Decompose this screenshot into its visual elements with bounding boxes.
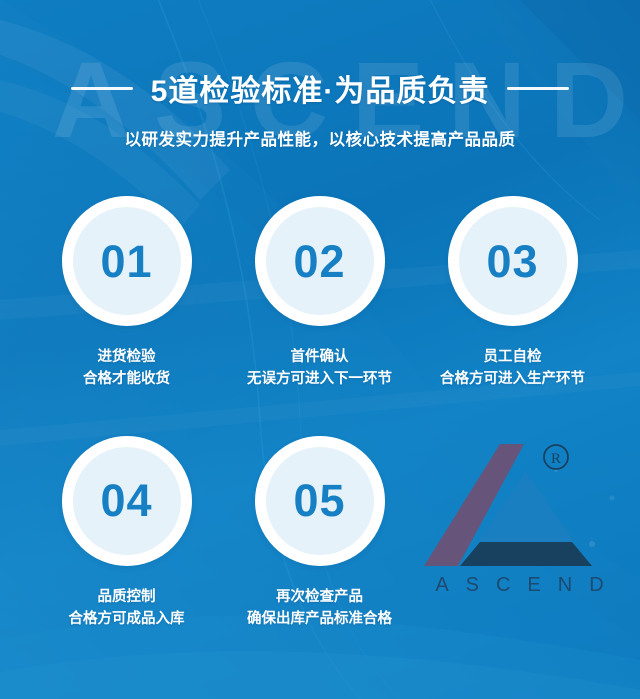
step-number-03: 03 (486, 239, 538, 284)
page-title: 5道检验标准·为品质负责 (151, 66, 490, 110)
title-rule-left-icon (71, 87, 133, 90)
step-item-01: 01 进货检验 合格才能收货 (30, 196, 223, 391)
step-caption-line1: 员工自检 (440, 346, 585, 368)
step-item-05: 05 再次检查产品 确保出库产品标准合格 (223, 436, 416, 631)
step-number-04: 04 (100, 478, 152, 523)
step-circle-03: 03 (448, 196, 578, 326)
step-caption-05: 再次检查产品 确保出库产品标准合格 (247, 586, 392, 631)
step-caption-04: 品质控制 合格方可成品入库 (69, 586, 185, 631)
step-caption-line1: 再次检查产品 (247, 586, 392, 608)
step-caption-line2: 合格方可进入生产环节 (440, 368, 585, 390)
step-caption-line1: 进货检验 (83, 346, 170, 368)
step-circle-02: 02 (255, 196, 385, 326)
step-number-05: 05 (293, 478, 345, 523)
step-caption-line1: 首件确认 (247, 346, 392, 368)
step-caption-02: 首件确认 无误方可进入下一环节 (247, 346, 392, 391)
step-number-02: 02 (293, 239, 345, 284)
step-caption-01: 进货检验 合格才能收货 (83, 346, 170, 391)
quality-inspection-banner: ASCEND 5道检验标准·为品质负责 以研发实力提升产品性能，以核心技术提高产… (0, 0, 640, 699)
title-row: 5道检验标准·为品质负责 (0, 66, 640, 110)
step-caption-03: 员工自检 合格方可进入生产环节 (440, 346, 585, 391)
step-caption-line2: 无误方可进入下一环节 (247, 368, 392, 390)
page-subtitle: 以研发实力提升产品性能，以核心技术提高产品品质 (0, 126, 640, 150)
step-circle-01: 01 (62, 196, 192, 326)
step-caption-line2: 合格才能收货 (83, 368, 170, 390)
step-item-03: 03 员工自检 合格方可进入生产环节 (416, 196, 609, 391)
inspection-steps: 01 进货检验 合格才能收货 02 首件确认 无误方可进入下一环节 03 (30, 196, 610, 631)
step-item-02: 02 首件确认 无误方可进入下一环节 (223, 196, 416, 391)
step-caption-line2: 确保出库产品标准合格 (247, 608, 392, 630)
step-number-01: 01 (100, 239, 152, 284)
step-circle-05: 05 (255, 436, 385, 566)
banner-header: 5道检验标准·为品质负责 以研发实力提升产品性能，以核心技术提高产品品质 (0, 66, 640, 150)
steps-row-2: 04 品质控制 合格方可成品入库 05 再次检查产品 确保出库产品标准合格 (30, 436, 610, 631)
step-caption-line1: 品质控制 (69, 586, 185, 608)
step-caption-line2: 合格方可成品入库 (69, 608, 185, 630)
steps-row-1: 01 进货检验 合格才能收货 02 首件确认 无误方可进入下一环节 03 (30, 196, 610, 391)
step-item-04: 04 品质控制 合格方可成品入库 (30, 436, 223, 631)
title-rule-right-icon (507, 87, 569, 90)
step-circle-04: 04 (62, 436, 192, 566)
